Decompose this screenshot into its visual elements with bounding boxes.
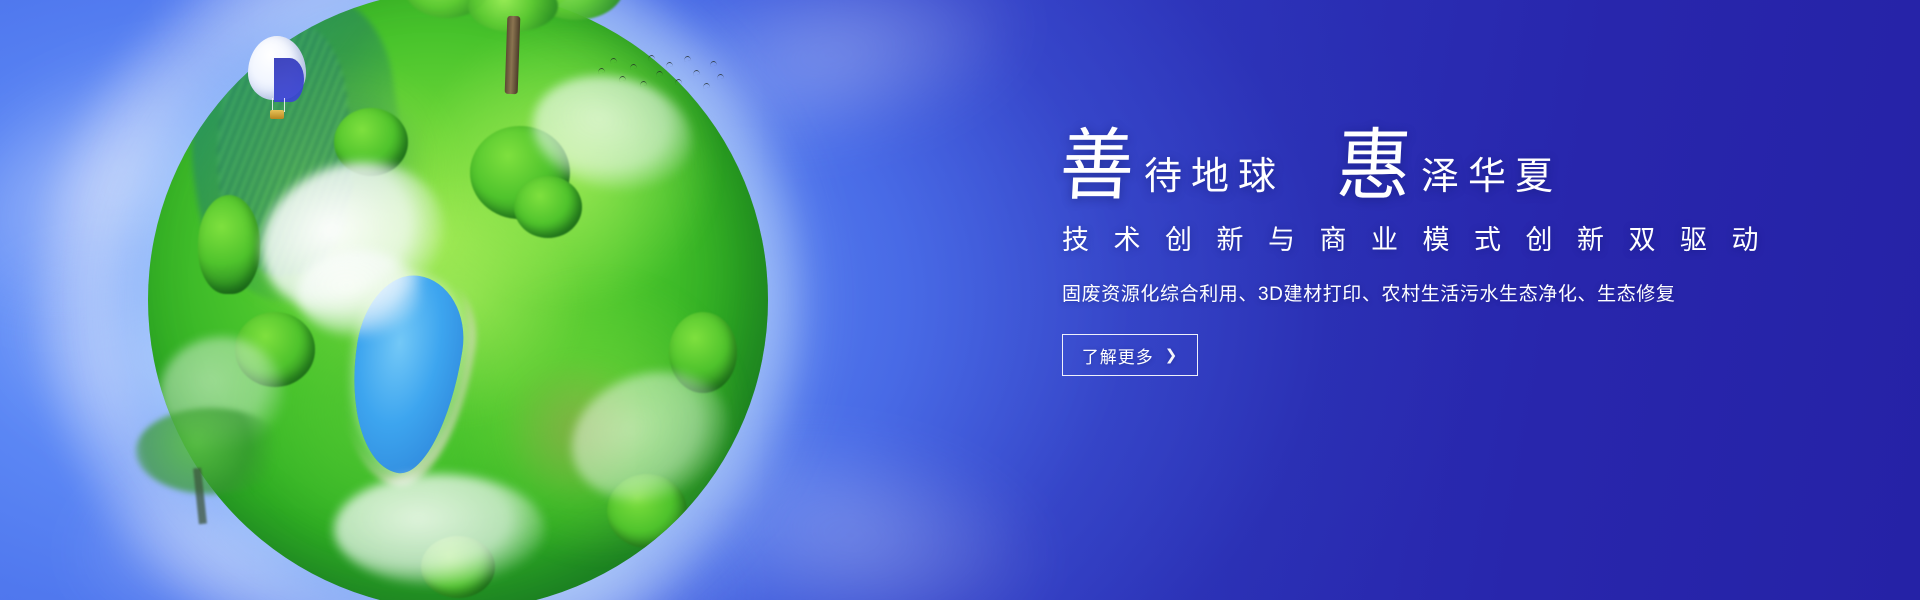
bird-icon [598, 68, 605, 74]
bird-icon [666, 62, 673, 68]
headline-accent-char-2: 惠 [1335, 128, 1413, 206]
headline-text-1: 待地球 [1144, 158, 1285, 196]
bird-icon [619, 76, 626, 82]
bird-icon [648, 55, 655, 61]
balloon-stripe [274, 58, 304, 102]
bird-icon [640, 81, 647, 87]
learn-more-label: 了解更多 [1082, 343, 1154, 368]
bird-icon [630, 64, 637, 70]
bird-flock [596, 50, 726, 94]
bird-icon [675, 79, 682, 85]
bird-icon [703, 83, 710, 89]
bird-icon [684, 56, 691, 62]
chevron-right-icon: ❯ [1165, 348, 1179, 363]
hot-air-balloon-icon [248, 36, 306, 122]
bird-icon [693, 70, 700, 76]
bird-icon [656, 71, 663, 77]
tree-canopy [514, 176, 582, 238]
tree-canopy [198, 195, 260, 294]
tree-trunk [505, 16, 521, 94]
hero-banner: 善 待地球 惠 泽华夏 技 术 创 新 与 商 业 模 式 创 新 双 驱 动 … [0, 0, 1920, 600]
headline-accent-char-1: 善 [1058, 128, 1136, 206]
headline-text-2: 泽华夏 [1421, 158, 1562, 196]
hero-text-block: 善 待地球 惠 泽华夏 技 术 创 新 与 商 业 模 式 创 新 双 驱 动 … [1060, 130, 1780, 376]
hero-headline: 善 待地球 惠 泽华夏 [1060, 130, 1780, 204]
rim-tree [136, 408, 286, 528]
learn-more-button[interactable]: 了解更多 ❯ [1062, 334, 1198, 376]
planet-cloud [297, 250, 421, 337]
bird-icon [710, 61, 717, 67]
hero-description: 固废资源化综合利用、3D建材打印、农村生活污水生态净化、生态修复 [1062, 279, 1780, 306]
hero-tree [410, 0, 620, 104]
bird-icon [610, 58, 617, 64]
planet-cloud [334, 474, 545, 586]
tree-foliage [136, 408, 286, 494]
bird-icon [717, 74, 724, 80]
hero-subtitle: 技 术 创 新 与 商 业 模 式 创 新 双 驱 动 [1062, 218, 1780, 257]
balloon-basket [270, 110, 284, 119]
